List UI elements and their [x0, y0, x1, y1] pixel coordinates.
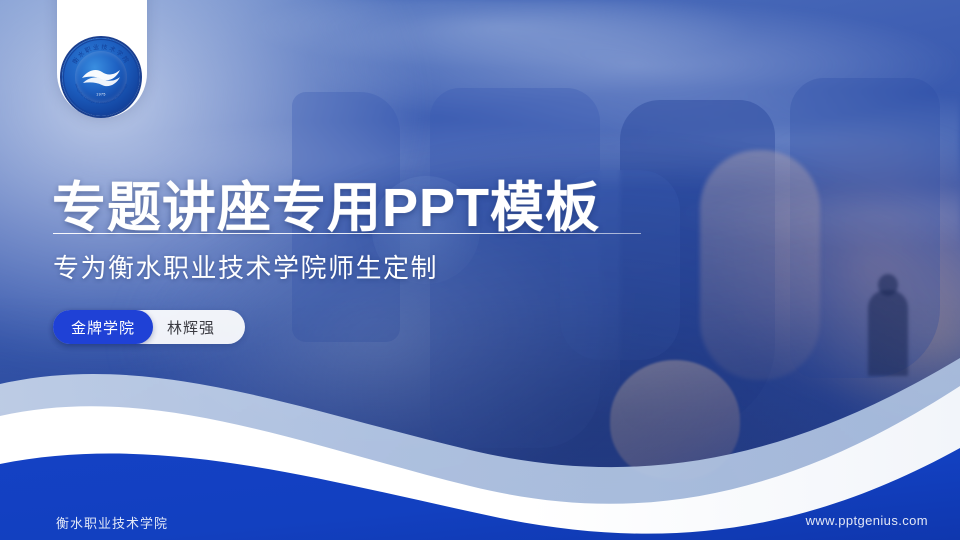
status-badge-author[interactable]: 林辉强: [153, 310, 231, 344]
ppt-title-slide: 衡水职业技术学院 Hengshui College of Vocational …: [0, 0, 960, 540]
footer-website-link[interactable]: www.pptgenius.com: [806, 513, 928, 528]
page-subtitle: 专为衡水职业技术学院师生定制: [53, 248, 438, 285]
title-divider: [53, 233, 641, 234]
logo-artwork: 衡水职业技术学院 Hengshui College of Vocational …: [62, 38, 140, 116]
status-badge-category[interactable]: 金牌学院: [53, 310, 153, 344]
footer-institution-label: 衡水职业技术学院: [56, 513, 168, 532]
bottom-wave-decoration: [0, 340, 960, 540]
badge-group: 金牌学院 林辉强: [53, 310, 231, 344]
page-title: 专题讲座专用PPT模板: [52, 163, 600, 242]
svg-text:衡水职业技术学院: 衡水职业技术学院: [71, 43, 132, 66]
svg-text:1975: 1975: [96, 93, 106, 97]
college-logo-icon: 衡水职业技术学院 Hengshui College of Vocational …: [62, 38, 140, 116]
